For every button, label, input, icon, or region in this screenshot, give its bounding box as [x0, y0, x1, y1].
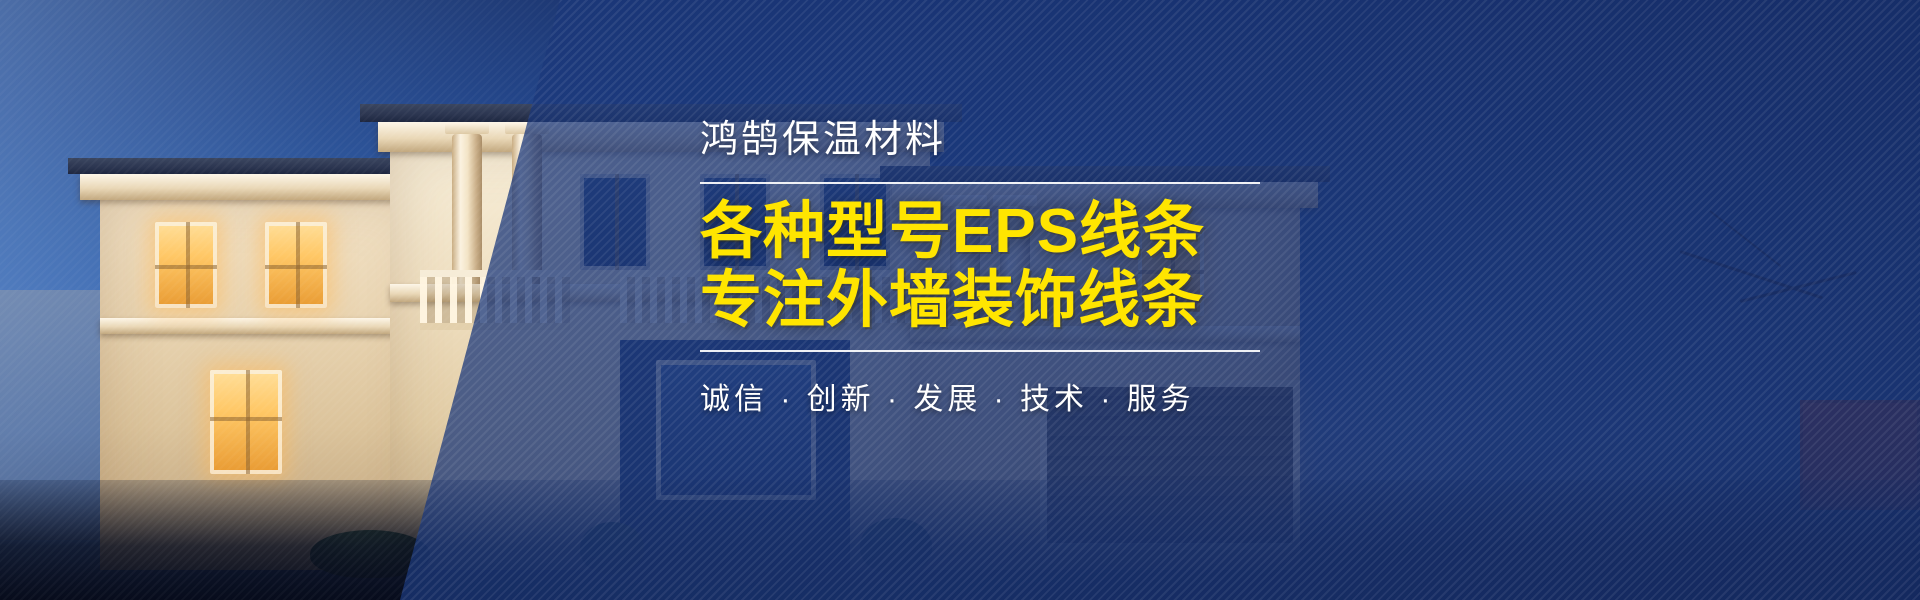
hero-banner: 鸿鹄保温材料 各种型号EPS线条 专注外墙装饰线条 诚信 · 创新 · 发展 ·…	[0, 0, 1920, 600]
window-left-upper-1	[155, 222, 217, 308]
window-left-lower-1	[210, 370, 282, 474]
headline-line-2: 专注外墙装饰线条	[700, 269, 1260, 332]
headline-line-1: 各种型号EPS线条	[700, 200, 1260, 263]
divider-line-bottom	[700, 350, 1260, 352]
divider-line-top	[700, 182, 1260, 184]
window-left-upper-2	[265, 222, 327, 308]
brand-name: 鸿鹄保温材料	[700, 120, 1260, 162]
banner-copy-block: 鸿鹄保温材料 各种型号EPS线条 专注外墙装饰线条 诚信 · 创新 · 发展 ·…	[700, 120, 1260, 418]
tagline: 诚信 · 创新 · 发展 · 技术 · 服务	[700, 374, 1260, 418]
belt-course-left	[100, 318, 430, 334]
column-1	[452, 134, 482, 284]
